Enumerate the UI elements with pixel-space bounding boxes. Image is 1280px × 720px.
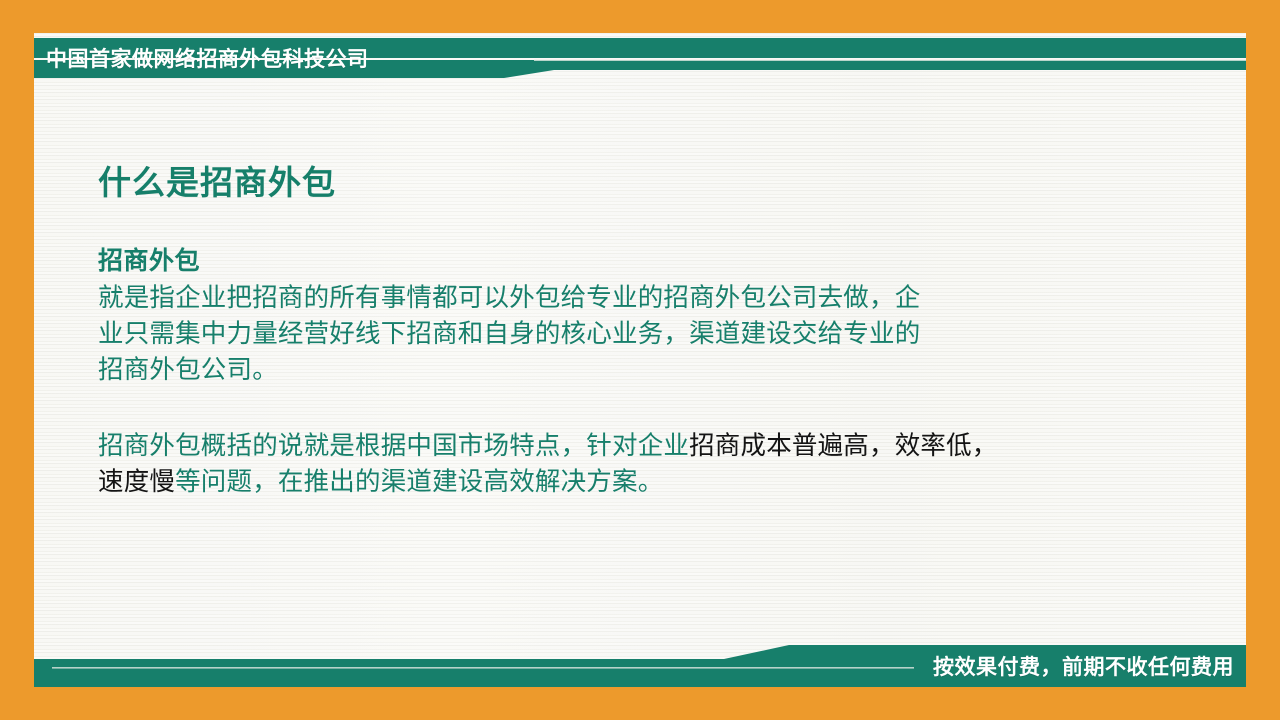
paragraph-line: 就是指企业把招商的所有事情都可以外包给专业的招商外包公司去做，企 [98,280,1218,316]
paragraph-line: 招商外包公司。 [98,352,1218,388]
paragraph-line: 速度慢等问题，在推出的渠道建设高效解决方案。 [98,464,1218,500]
content-area: 什么是招商外包 招商外包 就是指企业把招商的所有事情都可以外包给专业的招商外包公… [98,160,1218,500]
paragraph-definition: 就是指企业把招商的所有事情都可以外包给专业的招商外包公司去做，企 业只需集中力量… [98,280,1218,388]
summary-dark-emphasis: 招商成本普遍高，效率低， [689,432,997,460]
summary-dark-emphasis-2: 速度慢 [98,468,175,496]
slide-root: 中国首家做网络招商外包科技公司 按效果付费，前期不收任何费用 什么是招商外包 招… [0,0,1280,720]
section-subheading: 招商外包 [98,244,1218,278]
footer-tagline: 按效果付费，前期不收任何费用 [933,648,1234,684]
paragraph-spacer [98,388,1218,428]
paragraph-line: 招商外包概括的说就是根据中国市场特点，针对企业招商成本普遍高，效率低， [98,428,1218,464]
header-title: 中国首家做网络招商外包科技公司 [46,42,476,74]
summary-green-lead: 招商外包概括的说就是根据中国市场特点，针对企业 [98,432,689,460]
paragraph-summary: 招商外包概括的说就是根据中国市场特点，针对企业招商成本普遍高，效率低， 速度慢等… [98,428,1218,500]
paragraph-line: 业只需集中力量经营好线下招商和自身的核心业务，渠道建设交给专业的 [98,316,1218,352]
page-title: 什么是招商外包 [98,160,1218,206]
summary-green-tail: 等问题，在推出的渠道建设高效解决方案。 [175,468,663,496]
